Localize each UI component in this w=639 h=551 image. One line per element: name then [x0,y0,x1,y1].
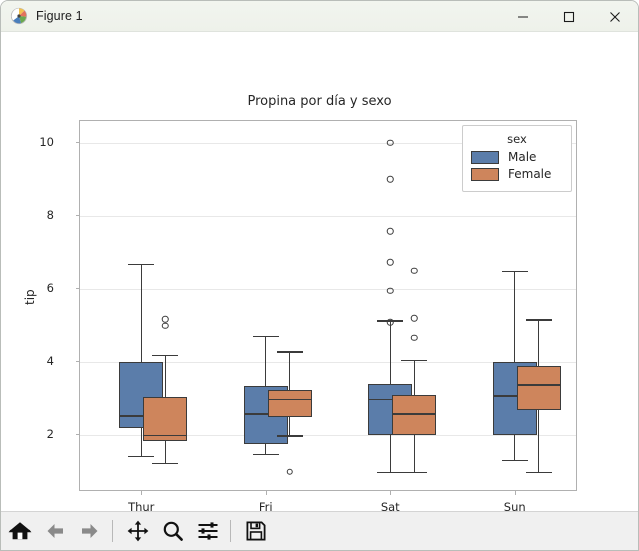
y-tick-label: 4 [14,354,54,368]
cap-high [401,360,427,361]
outlier-point [387,288,394,295]
box [268,390,312,417]
box [392,395,436,435]
legend-item-female: Female [471,167,563,181]
gridline [80,216,576,217]
cap-low [377,472,403,473]
configure-subplots-sliders-icon[interactable] [192,515,224,547]
cap-low [526,472,552,473]
cap-high [253,336,279,337]
cap-high [502,271,528,272]
cap-high [128,264,154,265]
median-line [517,384,561,385]
whisker-high [514,271,515,362]
whisker-high [265,336,266,386]
cap-low [277,435,303,436]
zoom-magnifier-icon[interactable] [157,515,189,547]
cap-low [152,463,178,464]
cap-low [253,454,279,455]
whisker-low [514,435,515,460]
window-title: Figure 1 [36,9,83,23]
y-tick-label: 10 [14,135,54,149]
cap-high [277,351,303,352]
legend-label-male: Male [508,150,536,164]
home-icon[interactable] [4,515,36,547]
toolbar-separator-1 [112,520,113,542]
outlier-point [411,268,418,275]
x-tick-mark [515,491,516,495]
matplotlib-icon [10,7,28,25]
legend-item-male: Male [471,150,563,164]
outlier-point [387,228,394,235]
outlier-point [387,259,394,266]
forward-arrow-icon[interactable] [74,515,106,547]
median-line [143,435,187,436]
x-tick-mark [141,491,142,495]
legend-label-female: Female [508,167,551,181]
y-tick-mark [76,434,80,435]
cap-high [526,319,552,320]
y-tick-mark [76,215,80,216]
outlier-point [287,469,294,476]
whisker-low [538,410,539,472]
legend-title: sex [471,132,563,146]
legend-swatch-male [471,151,499,164]
whisker-high [165,355,166,397]
whisker-low [289,417,290,435]
whisker-high [289,351,290,389]
whisker-high [414,360,415,395]
cap-low [401,472,427,473]
minimize-button[interactable] [500,1,546,32]
whisker-low [265,444,266,453]
y-tick-mark [76,288,80,289]
figure-window: Figure 1 Propina por día y sexo tip day … [0,0,639,551]
x-tick-mark [266,491,267,495]
cap-low [128,456,154,457]
title-bar: Figure 1 [1,1,638,32]
outlier-point [387,140,394,147]
maximize-button[interactable] [546,1,592,32]
whisker-low [414,435,415,472]
y-tick-label: 2 [14,427,54,441]
median-line [268,399,312,400]
whisker-low [165,441,166,463]
back-arrow-icon[interactable] [39,515,71,547]
whisker-low [390,435,391,472]
outlier-point [387,319,394,326]
chart-title: Propina por día y sexo [1,94,638,109]
pan-move-icon[interactable] [122,515,154,547]
outlier-point [387,176,394,183]
outlier-point [162,322,169,329]
cap-high [152,355,178,356]
y-tick-mark [76,142,80,143]
x-tick-mark [390,491,391,495]
y-tick-label: 8 [14,208,54,222]
whisker-high [141,264,142,363]
y-tick-mark [76,361,80,362]
whisker-high [538,319,539,365]
box [517,366,561,410]
legend-swatch-female [471,168,499,181]
window-controls [500,1,638,32]
navigation-toolbar [1,511,638,550]
median-line [392,413,436,414]
whisker-high [390,320,391,384]
toolbar-separator-2 [230,520,231,542]
gridline [80,289,576,290]
figure-canvas[interactable]: Propina por día y sexo tip day 246810Thu… [1,32,638,512]
legend: sex Male Female [462,125,572,192]
outlier-point [411,335,418,342]
outlier-point [411,315,418,322]
close-button[interactable] [592,1,638,32]
whisker-low [141,428,142,456]
y-tick-label: 6 [14,281,54,295]
save-floppy-icon[interactable] [240,515,272,547]
cap-low [502,460,528,461]
